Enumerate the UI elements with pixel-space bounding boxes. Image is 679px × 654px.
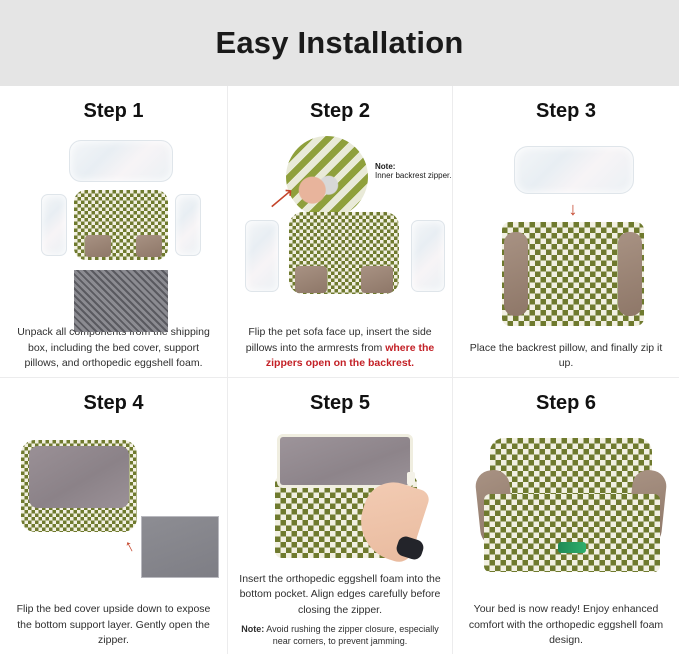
step-illustration-4: ↑ bbox=[7, 420, 220, 602]
step-caption-1: Unpack all components from the shipping … bbox=[7, 325, 220, 371]
note-label-5: Note: bbox=[241, 624, 264, 634]
step-title-3: Step 3 bbox=[536, 100, 596, 122]
pocket-left bbox=[85, 235, 111, 257]
sofa-backrest bbox=[490, 438, 652, 502]
caption-text-3: Place the backrest pillow, and finally z… bbox=[470, 342, 663, 369]
header-band: Easy Installation bbox=[0, 0, 679, 86]
side-pillow-bag-left bbox=[245, 220, 279, 292]
page-title: Easy Installation bbox=[215, 25, 463, 61]
step-card-5: Step 5 Insert the orthopedic eggshell fo… bbox=[228, 378, 453, 654]
step-title-1: Step 1 bbox=[83, 100, 143, 122]
eggshell-foam-insert bbox=[277, 434, 413, 488]
side-pillow-bag-right bbox=[411, 220, 445, 292]
step-card-3: Step 3 ↓ Place the backrest pillow, and … bbox=[453, 86, 679, 378]
pocket-right bbox=[136, 235, 162, 257]
steps-grid: Step 1 Unpack all components from the sh… bbox=[0, 86, 679, 654]
callout-title-2: Note: bbox=[375, 162, 453, 171]
armrest-right bbox=[618, 232, 642, 316]
step-card-4: Step 4 ↑ Flip the bed cover upside down … bbox=[0, 378, 228, 654]
side-pillow-bag-right bbox=[175, 194, 201, 256]
caption-text-4: Flip the bed cover upside down to expose… bbox=[17, 603, 211, 645]
step-card-1: Step 1 Unpack all components from the sh… bbox=[0, 86, 228, 378]
arrow-down-icon: ↓ bbox=[564, 198, 582, 222]
step-caption-2: Flip the pet sofa face up, insert the si… bbox=[235, 325, 445, 371]
backrest-pillow-bag bbox=[69, 140, 173, 182]
step-caption-4: Flip the bed cover upside down to expose… bbox=[7, 602, 220, 648]
sofa-seat bbox=[484, 494, 660, 572]
note-text-5: Avoid rushing the zipper closure, especi… bbox=[264, 624, 438, 647]
step-caption-6: Your bed is now ready! Enjoy enhanced co… bbox=[460, 602, 672, 648]
step-illustration-2: ⟶ Note: Inner backrest zipper. bbox=[235, 128, 445, 325]
step-card-2: Step 2 ⟶ Note: Inner backrest zipper. Fl… bbox=[228, 86, 453, 378]
step-illustration-1 bbox=[7, 128, 220, 325]
armrest-pocket-right bbox=[361, 266, 393, 293]
step-card-6: Step 6 Your bed is now ready! Enjoy enha… bbox=[453, 378, 679, 654]
step-title-5: Step 5 bbox=[310, 392, 370, 414]
step-title-6: Step 6 bbox=[536, 392, 596, 414]
installation-infographic: Easy Installation Step 1 Unpack all comp… bbox=[0, 0, 679, 654]
step-title-2: Step 2 bbox=[310, 100, 370, 122]
callout-body-2: Inner backrest zipper. bbox=[375, 171, 453, 181]
zipper-tab bbox=[407, 472, 415, 485]
step-illustration-5 bbox=[235, 420, 445, 572]
armrest-left bbox=[504, 232, 528, 316]
armrest-pocket-left bbox=[295, 266, 327, 293]
zipper-closeup-inset bbox=[286, 136, 368, 218]
step-title-4: Step 4 bbox=[83, 392, 143, 414]
step-caption-3: Place the backrest pillow, and finally z… bbox=[460, 341, 672, 371]
bottom-support-layer bbox=[29, 446, 129, 508]
zipper-callout: Note: Inner backrest zipper. bbox=[375, 162, 453, 181]
caption-text-5: Insert the orthopedic eggshell foam into… bbox=[239, 573, 440, 615]
step-illustration-6 bbox=[460, 420, 672, 602]
brand-tag bbox=[558, 542, 586, 553]
step-note-5: Note: Avoid rushing the zipper closure, … bbox=[235, 623, 445, 648]
step-caption-5: Insert the orthopedic eggshell foam into… bbox=[235, 572, 445, 618]
caption-text-1: Unpack all components from the shipping … bbox=[17, 326, 210, 368]
curved-arrow-icon: ⟶ bbox=[265, 186, 296, 217]
step-illustration-3: ↓ bbox=[460, 128, 672, 341]
backrest-pillow bbox=[514, 146, 634, 194]
side-pillow-bag-left bbox=[41, 194, 67, 256]
caption-text-6: Your bed is now ready! Enjoy enhanced co… bbox=[469, 603, 663, 645]
eggshell-foam bbox=[74, 270, 168, 332]
support-panel bbox=[141, 516, 219, 578]
